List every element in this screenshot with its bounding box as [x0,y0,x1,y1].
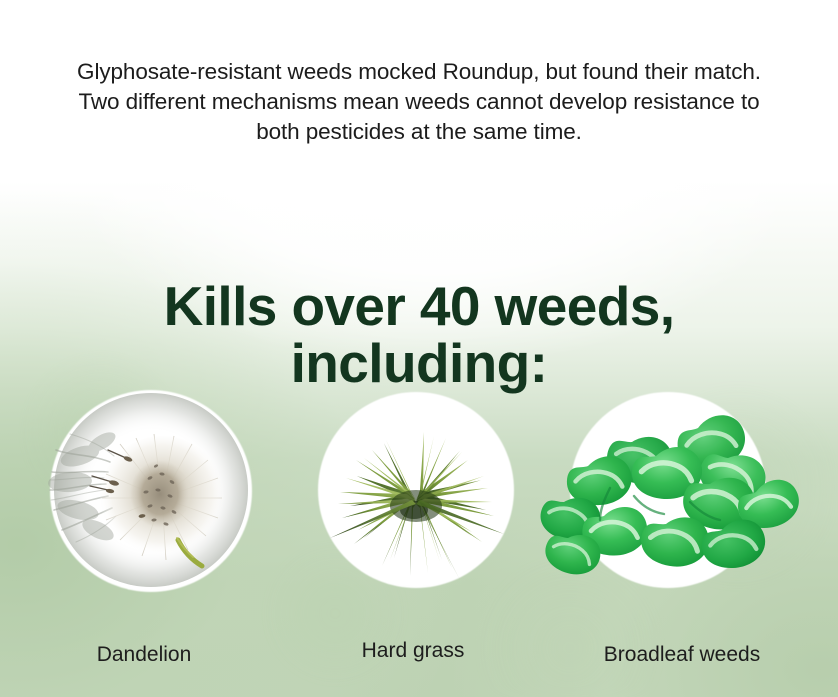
headline-line-2: including: [0,335,838,392]
caption-dandelion: Dandelion [44,643,244,667]
headline-line-1: Kills over 40 weeds, [164,275,675,337]
specimen-dandelion [50,390,252,592]
grass-clump-icon [318,392,514,588]
weed-control-poster: Glyphosate-resistant weeds mocked Roundu… [0,0,838,697]
intro-paragraph: Glyphosate-resistant weeds mocked Roundu… [60,57,778,147]
caption-hard-grass: Hard grass [315,639,511,663]
specimen-broadleaf-weeds [570,392,766,588]
specimen-hard-grass [318,392,514,588]
page-title: Kills over 40 weeds, including: [0,278,838,392]
clover-leaves-icon [570,392,766,588]
dandelion-seedhead-icon [50,390,252,592]
caption-broadleaf-weeds: Broadleaf weeds [584,643,780,667]
